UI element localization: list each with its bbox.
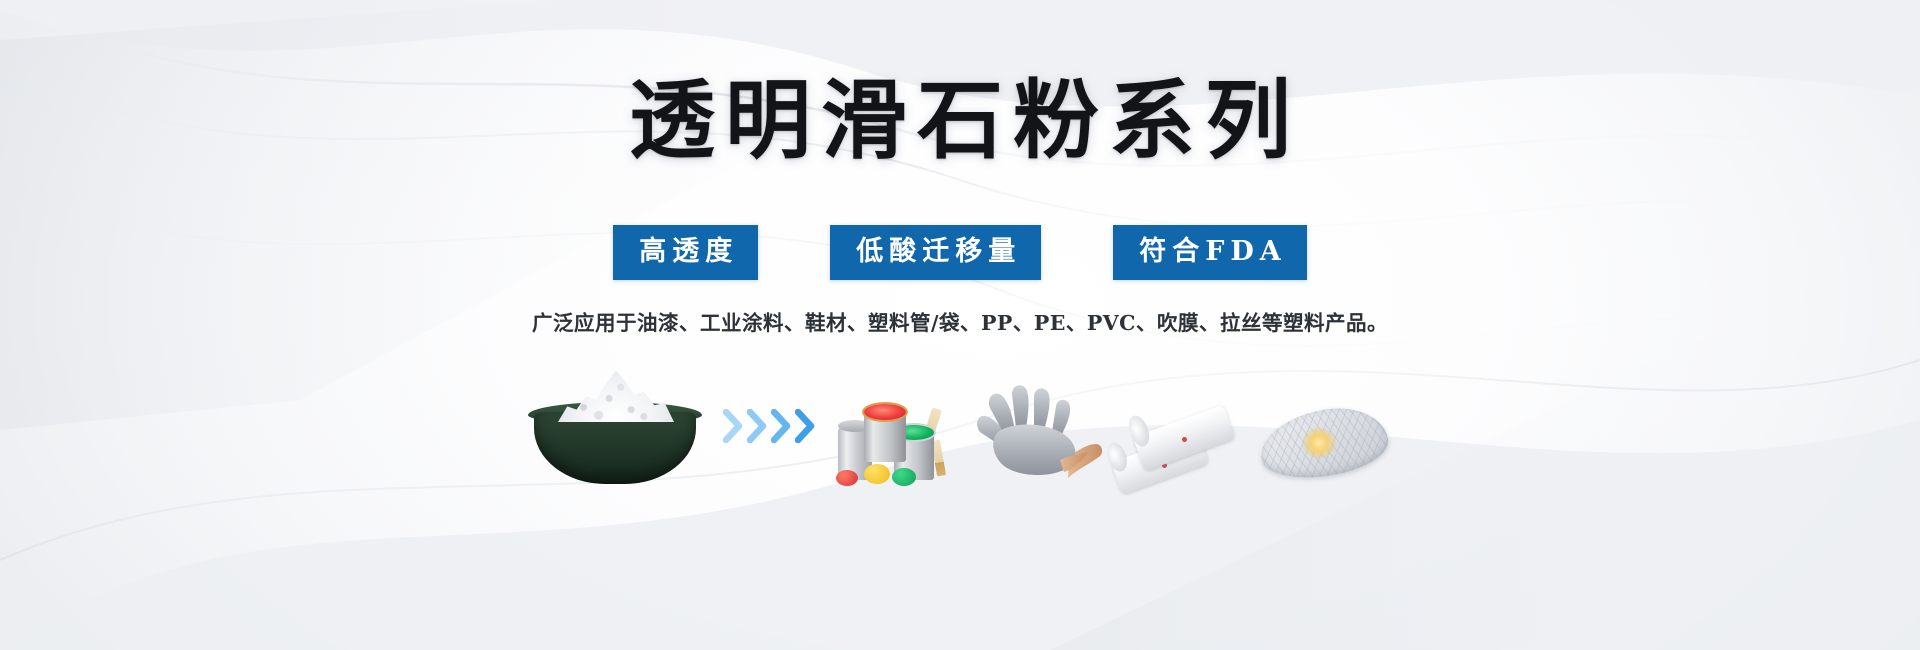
paint-cans-image [830, 366, 960, 486]
chevron-right-icon [747, 409, 769, 443]
shoe-sole-highlight [1302, 428, 1336, 458]
talc-powder-bowl-image [520, 366, 710, 486]
film-roll-mark [1182, 437, 1187, 442]
bowl-body [534, 412, 696, 484]
powder-texture [558, 366, 674, 422]
process-arrows-icon [710, 366, 830, 486]
paint-blob-green [892, 468, 916, 486]
chevron-right-icon [723, 409, 745, 443]
banner-description: 广泛应用于油漆、工业涂料、鞋材、塑料管/袋、PP、PE、PVC、吹膜、拉丝等塑料… [0, 306, 1920, 336]
banner-title: 透明滑石粉系列 [0, 78, 1920, 164]
plastic-film-rolls-image [1110, 366, 1250, 486]
paint-blob-red [836, 470, 858, 486]
hand-illustration [964, 382, 1106, 482]
feature-badge-group: 高透度 低酸迁移量 符合FDA [0, 225, 1920, 280]
feature-badge-high-transparency[interactable]: 高透度 [613, 225, 758, 280]
chevron-right-icon [795, 409, 817, 443]
chevron-right-icon [771, 409, 793, 443]
feature-badge-fda-compliant[interactable]: 符合FDA [1113, 225, 1307, 280]
red-paint-surface [864, 404, 906, 420]
product-image-strip [0, 356, 1920, 486]
gloved-hand-image [960, 366, 1110, 486]
paint-blob-yellow [864, 464, 890, 484]
shoe-sole-image [1250, 366, 1400, 486]
feature-badge-low-acid-migration[interactable]: 低酸迁移量 [830, 225, 1041, 280]
product-banner: 透明滑石粉系列 高透度 低酸迁移量 符合FDA 广泛应用于油漆、工业涂料、鞋材、… [0, 0, 1920, 650]
